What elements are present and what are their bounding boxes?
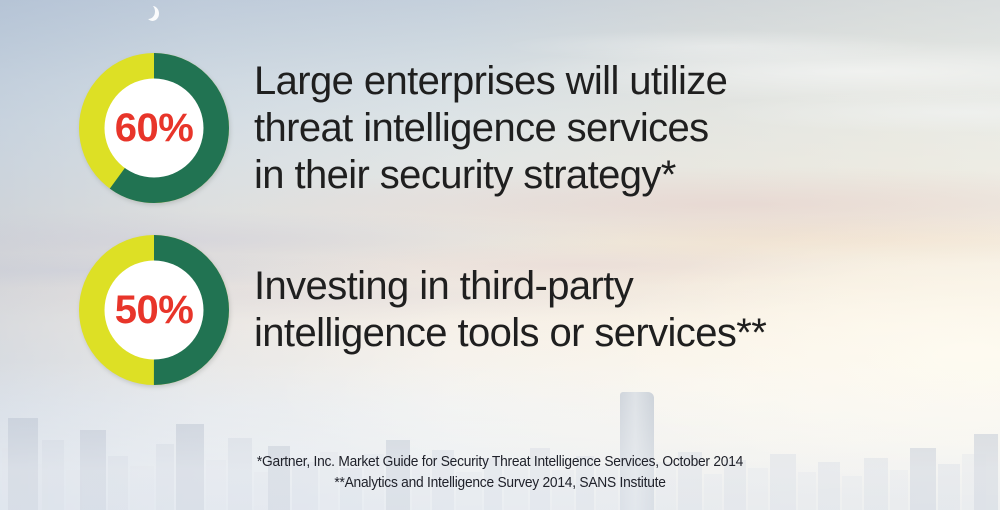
stat-block-50: 50% Investing in third-party intelligenc… <box>78 234 766 386</box>
stat-line: Large enterprises will utilize <box>254 58 727 105</box>
content-overlay: 60% Large enterprises will utilize threa… <box>0 0 1000 510</box>
stat-line: in their security strategy* <box>254 152 727 199</box>
donut-chart-50: 50% <box>78 234 230 386</box>
footnote-block: *Gartner, Inc. Market Guide for Security… <box>0 452 1000 494</box>
stat-text-50: Investing in third-party intelligence to… <box>254 263 766 357</box>
stat-line: Investing in third-party <box>254 263 766 310</box>
stat-block-60: 60% Large enterprises will utilize threa… <box>78 52 727 204</box>
donut-percent-label-50: 50% <box>78 234 230 386</box>
infographic-canvas: 60% Large enterprises will utilize threa… <box>0 0 1000 510</box>
footnote-gartner: *Gartner, Inc. Market Guide for Security… <box>25 452 975 473</box>
donut-percent-label-60: 60% <box>78 52 230 204</box>
donut-chart-60: 60% <box>78 52 230 204</box>
stat-line: threat intelligence services <box>254 105 727 152</box>
footnote-sans: **Analytics and Intelligence Survey 2014… <box>25 473 975 494</box>
stat-line: intelligence tools or services** <box>254 310 766 357</box>
stat-text-60: Large enterprises will utilize threat in… <box>254 58 727 199</box>
